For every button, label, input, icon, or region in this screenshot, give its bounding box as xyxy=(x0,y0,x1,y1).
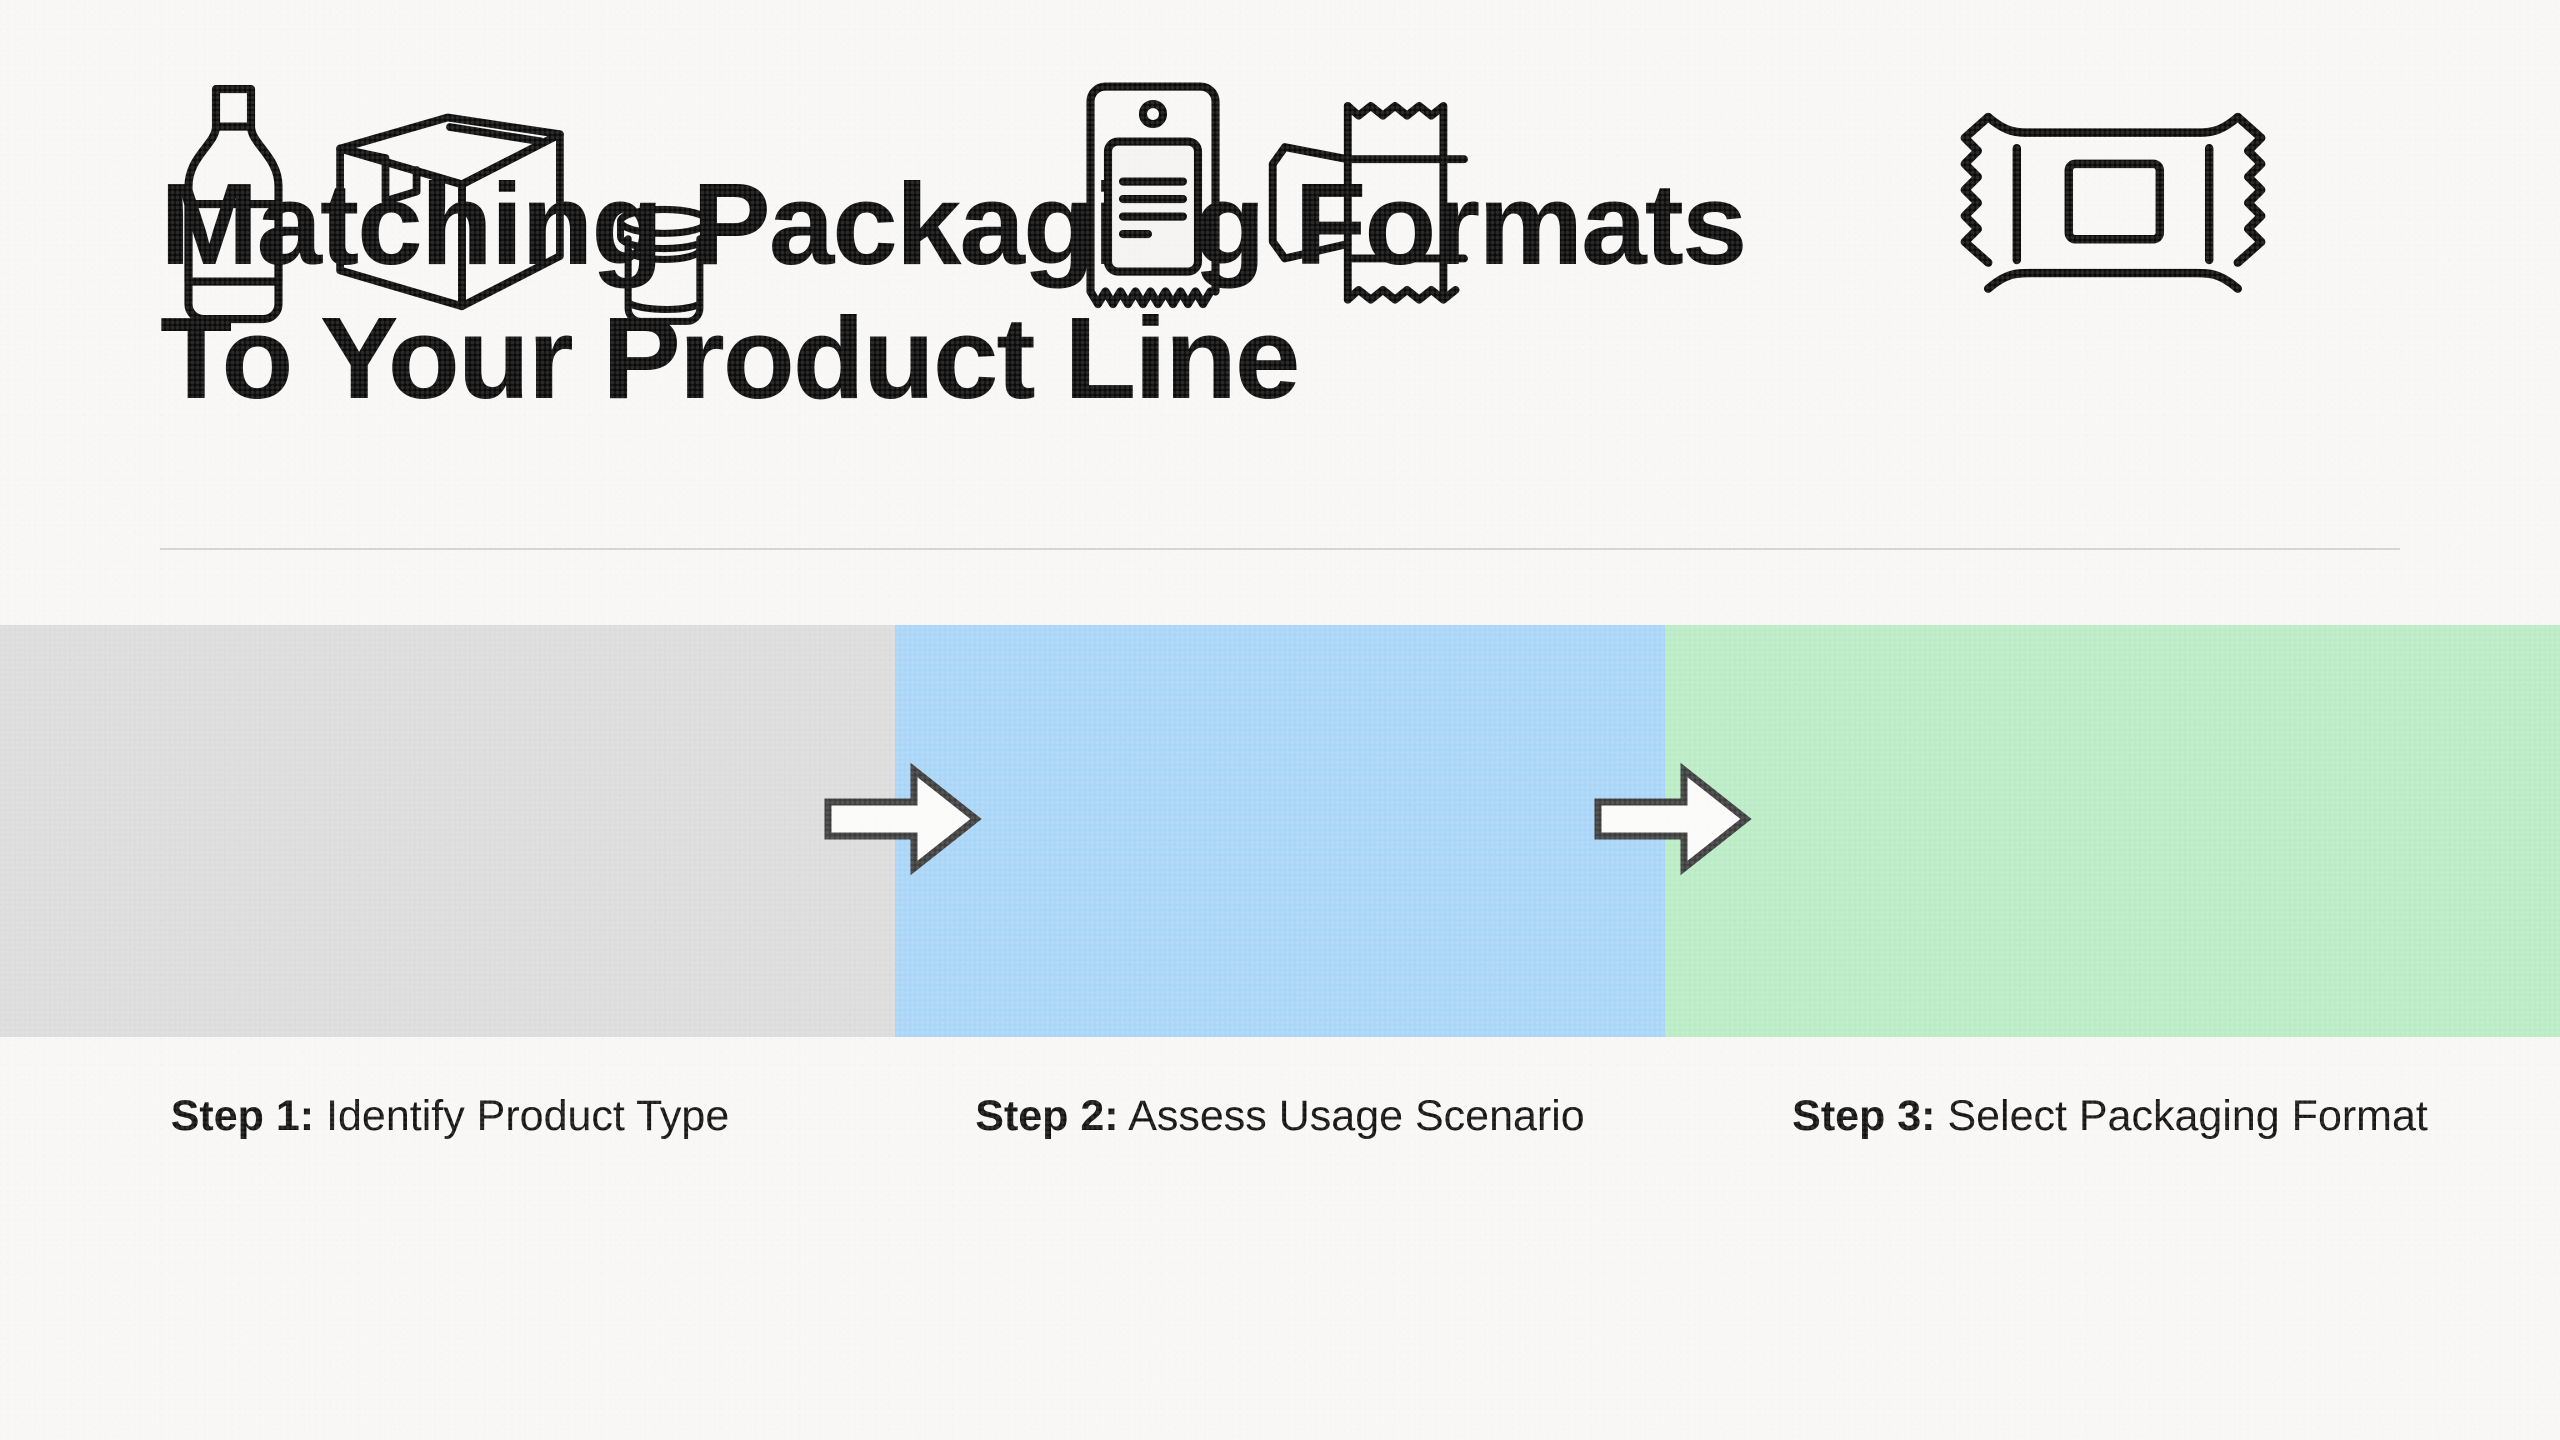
step-2-label: Step 2: xyxy=(975,1092,1118,1140)
icon-group-step-3 xyxy=(1665,0,2560,412)
icon-group-step-1 xyxy=(0,0,895,412)
candy-wrapper-icon xyxy=(1918,96,2308,316)
caption-step-1: Step 1: Identify Product Type xyxy=(90,1090,810,1142)
icon-group-step-2 xyxy=(895,0,1665,412)
flow-wrap-pouch-icon xyxy=(1262,89,1482,324)
step-2-description: Assess Usage Scenario xyxy=(1119,1092,1585,1140)
arrow-step-1-to-2 xyxy=(822,760,982,878)
caption-step-3: Step 3: Select Packaging Format xyxy=(1700,1090,2520,1142)
band-segment-step-2 xyxy=(895,625,1665,1037)
bottle-icon xyxy=(171,79,296,334)
band-segment-step-3 xyxy=(1665,625,2560,1037)
caption-step-2: Step 2: Assess Usage Scenario xyxy=(935,1090,1625,1142)
steps-band xyxy=(0,625,2560,1037)
title-divider xyxy=(160,548,2400,550)
step-1-label: Step 1: xyxy=(171,1092,314,1140)
arrow-step-2-to-3 xyxy=(1592,760,1752,878)
band-segment-step-1 xyxy=(0,625,895,1037)
step-3-label: Step 3: xyxy=(1792,1092,1935,1140)
sachet-label-icon xyxy=(1078,79,1228,334)
step-1-description: Identify Product Type xyxy=(314,1092,729,1140)
jar-icon xyxy=(604,204,724,334)
cardboard-box-icon xyxy=(330,96,570,316)
step-3-description: Select Packaging Format xyxy=(1936,1092,2428,1140)
